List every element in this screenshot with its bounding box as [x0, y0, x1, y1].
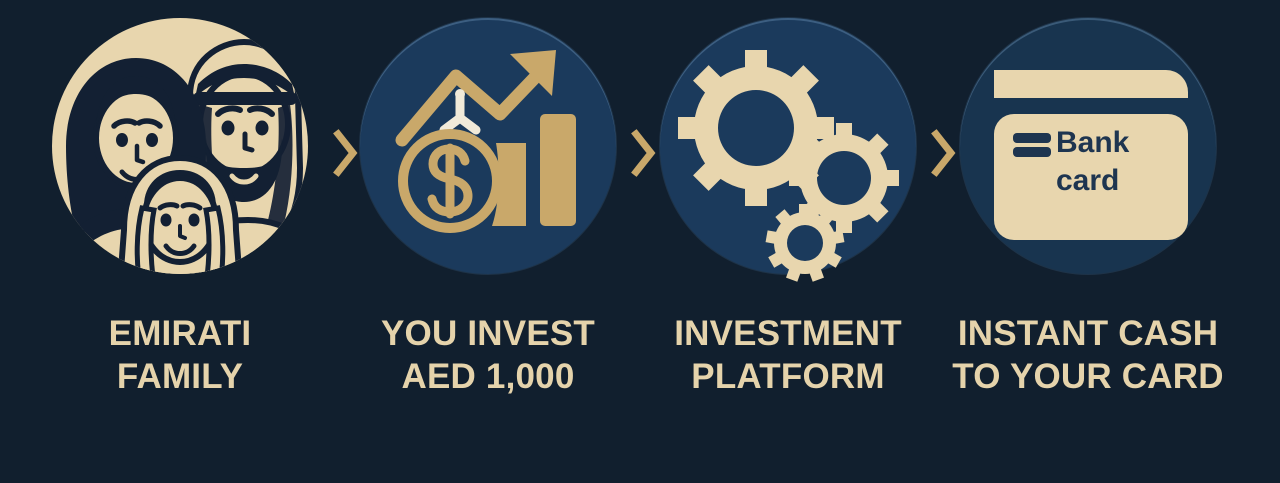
bank-card-icon: Bank card	[960, 18, 1216, 274]
step-4-icon-circle: Bank card	[960, 18, 1216, 274]
family-icon	[52, 18, 308, 274]
step-1-label-line1: EMIRATI	[40, 312, 320, 355]
step-3-label-line1: INVESTMENT	[648, 312, 928, 355]
growth-chart-dollar-icon	[360, 18, 616, 274]
card-brand-line2: card	[1056, 164, 1119, 197]
step-2-label-line2: AED 1,000	[348, 355, 628, 398]
step-4-label-line1: INSTANT CASH	[948, 312, 1228, 355]
step-2-icon-circle	[360, 18, 616, 274]
step-2-caption: YOU INVEST AED 1,000	[348, 312, 628, 399]
step-1-caption: EMIRATI FAMILY	[40, 312, 320, 399]
step-investment-platform: INVESTMENT PLATFORM	[648, 18, 928, 418]
step-emirati-family: EMIRATI FAMILY	[40, 18, 320, 418]
infographic-canvas: EMIRATI FAMILY	[0, 0, 1280, 483]
step-4-label-line2: TO YOUR CARD	[948, 355, 1228, 398]
step-3-label-line2: PLATFORM	[648, 355, 928, 398]
step-3-caption: INVESTMENT PLATFORM	[648, 312, 928, 399]
step-4-caption: INSTANT CASH TO YOUR CARD	[948, 312, 1228, 399]
step-3-icon-circle	[660, 18, 916, 274]
step-2-label-line1: YOU INVEST	[348, 312, 628, 355]
step-1-icon-circle	[52, 18, 308, 274]
card-brand-line1: Bank	[1056, 126, 1130, 159]
step-instant-cash: Bank card INSTANT CASH TO YOUR CARD	[948, 18, 1228, 418]
gears-icon	[660, 18, 916, 274]
step-you-invest: YOU INVEST AED 1,000	[348, 18, 628, 418]
step-1-label-line2: FAMILY	[40, 355, 320, 398]
